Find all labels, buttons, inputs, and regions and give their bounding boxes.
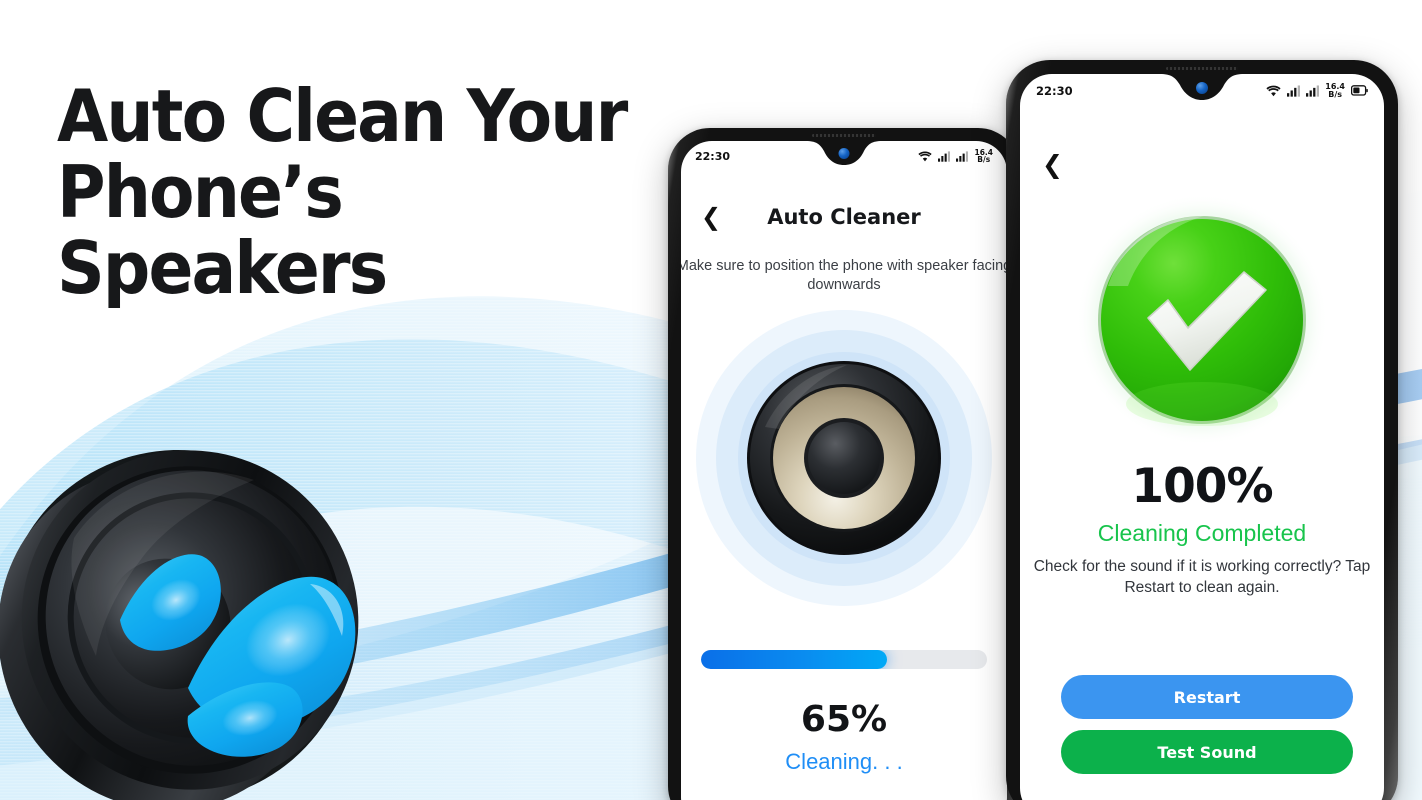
progress-status-text: Cleaning. . . bbox=[681, 749, 1007, 775]
earpiece-grille bbox=[812, 134, 876, 137]
instruction-text: Make sure to position the phone with spe… bbox=[681, 257, 1007, 295]
network-speed-indicator: 16.4 B/s bbox=[974, 149, 993, 164]
status-time: 22:30 bbox=[695, 150, 730, 163]
network-speed-unit: B/s bbox=[977, 156, 990, 164]
phone1-statusbar: 22:30 bbox=[681, 147, 1007, 165]
completion-description: Check for the sound if it is working cor… bbox=[1020, 556, 1384, 598]
wifi-icon bbox=[918, 151, 932, 162]
instruction-line-1: Make sure to position the phone with spe… bbox=[681, 257, 1007, 276]
phone2-statusbar: 22:30 bbox=[1020, 81, 1384, 100]
earpiece-grille bbox=[1166, 67, 1238, 70]
restart-button[interactable]: Restart bbox=[1061, 675, 1353, 719]
progress-bar-fill bbox=[701, 650, 887, 669]
progress-percent: 65% bbox=[681, 699, 1007, 740]
phone-mockup-completed: 22:30 bbox=[1006, 60, 1398, 800]
progress-bar-track bbox=[701, 650, 987, 669]
loudspeaker-with-water-drops bbox=[0, 388, 422, 800]
phone-mockup-cleaning: 22:30 bbox=[668, 128, 1020, 800]
completion-status: Cleaning Completed bbox=[1020, 520, 1384, 547]
completion-description-line-1: Check for the sound if it is working cor… bbox=[1034, 558, 1342, 575]
test-sound-button[interactable]: Test Sound bbox=[1061, 730, 1353, 774]
signal-bars-icon bbox=[1306, 85, 1319, 97]
app-title: Auto Cleaner bbox=[681, 205, 1007, 229]
instruction-line-2: downwards bbox=[681, 276, 1007, 295]
phone2-screen: 22:30 bbox=[1020, 74, 1384, 800]
signal-bars-icon bbox=[956, 151, 968, 162]
green-check-circle-icon bbox=[1072, 190, 1332, 450]
signal-bars-icon bbox=[938, 151, 950, 162]
network-speed-unit: B/s bbox=[1328, 91, 1342, 99]
phone1-screen: 22:30 bbox=[681, 141, 1007, 800]
wifi-icon bbox=[1266, 85, 1281, 97]
back-button[interactable]: ❮ bbox=[1042, 152, 1063, 177]
battery-icon bbox=[1351, 85, 1368, 96]
speaker-driver-icon bbox=[693, 307, 995, 609]
completion-percent: 100% bbox=[1020, 459, 1384, 514]
status-time: 22:30 bbox=[1036, 84, 1073, 98]
signal-bars-icon bbox=[1287, 85, 1300, 97]
network-speed-indicator: 16.4 B/s bbox=[1325, 83, 1345, 99]
promo-screenshot: Auto Clean Your Phone’s Speakers bbox=[0, 0, 1422, 800]
page-title: Auto Clean Your Phone’s Speakers bbox=[57, 78, 627, 306]
